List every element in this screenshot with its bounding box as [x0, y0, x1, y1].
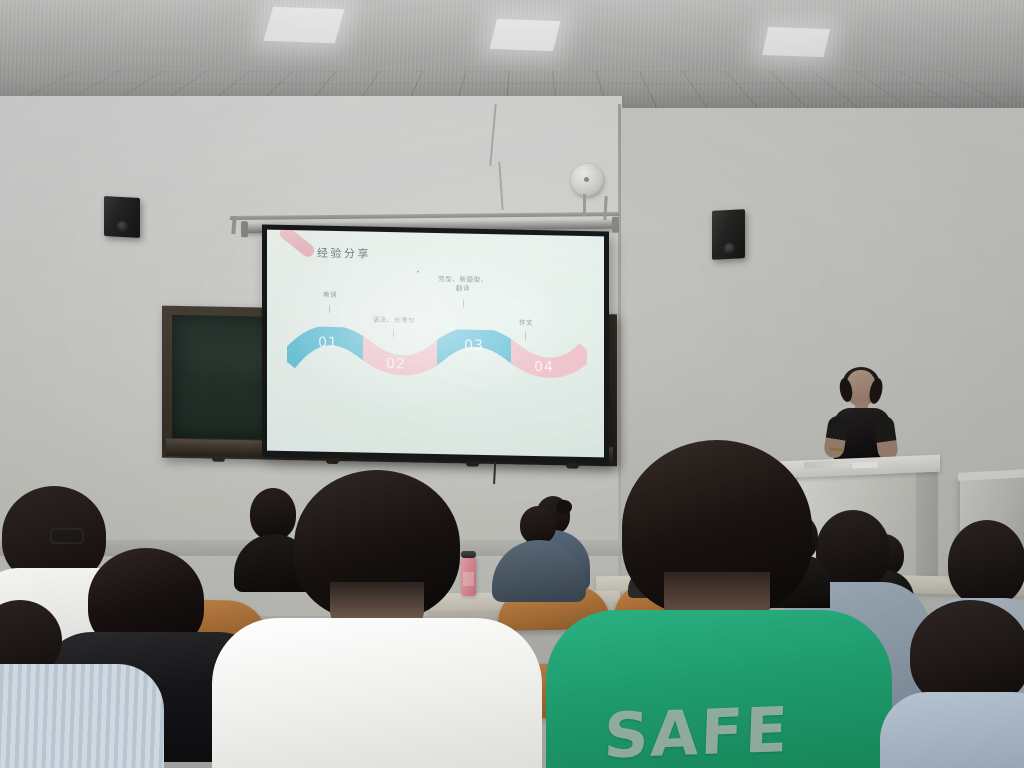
slide-canvas: 经验分享 单词 语法、长难句 完型、新题型、 翻译 作文: [267, 230, 604, 458]
slide-step-tick-03: [463, 300, 464, 308]
student-foreground-white: [238, 470, 538, 768]
slide-accent-shape: [277, 230, 317, 260]
slide-step-label-03: 完型、新题型、 翻译: [417, 275, 509, 295]
student-striped: [0, 610, 160, 768]
slide-title: 经验分享: [317, 245, 371, 262]
tray-bracket: [466, 460, 479, 466]
speaker-right: [712, 209, 745, 260]
wave-number-03: 03: [459, 341, 489, 351]
tray-bracket: [212, 456, 225, 462]
slide-wave-diagram: 01 02 03 04: [287, 326, 587, 390]
slide-step-tick-01: [329, 305, 330, 313]
classroom-photo: 经验分享 单词 语法、长难句 完型、新题型、 翻译 作文: [0, 0, 1024, 768]
ceiling: [0, 0, 1024, 108]
speaker-cone-icon: [117, 221, 128, 233]
shirt-graphic-text: SAFE: [603, 692, 805, 768]
student-bottom-right: [880, 600, 1024, 768]
wave-number-04: 04: [529, 363, 559, 373]
speaker-cone-icon: [724, 243, 735, 255]
slide-step-label-02: 语法、长难句: [355, 315, 433, 326]
student-torso: SAFE: [546, 610, 892, 768]
roller-bracket: [241, 221, 248, 237]
wave-number-01: 01: [313, 339, 343, 349]
slide-bullet-dot: [417, 271, 419, 273]
projector-screen: 经验分享 单词 语法、长难句 完型、新题型、 翻译 作文: [262, 225, 609, 464]
student-foreground-green: SAFE: [556, 440, 886, 768]
roller-bracket: [612, 217, 619, 233]
alarm-bell-center: [584, 177, 589, 182]
ceiling-shading: [0, 0, 1024, 108]
wave-number-02: 02: [381, 360, 411, 370]
alarm-bell-mount: [583, 194, 586, 216]
student-head: [948, 520, 1024, 606]
student-torso: [880, 692, 1024, 768]
glasses-icon: [50, 528, 84, 544]
alarm-bell-icon: [571, 164, 603, 196]
student-torso: [0, 664, 164, 768]
tray-bracket: [326, 458, 339, 464]
slide-step-label-04: 作文: [501, 318, 551, 328]
speaker-left: [104, 196, 140, 238]
slide-step-label-01: 单词: [305, 290, 355, 300]
student-torso: [212, 618, 542, 768]
